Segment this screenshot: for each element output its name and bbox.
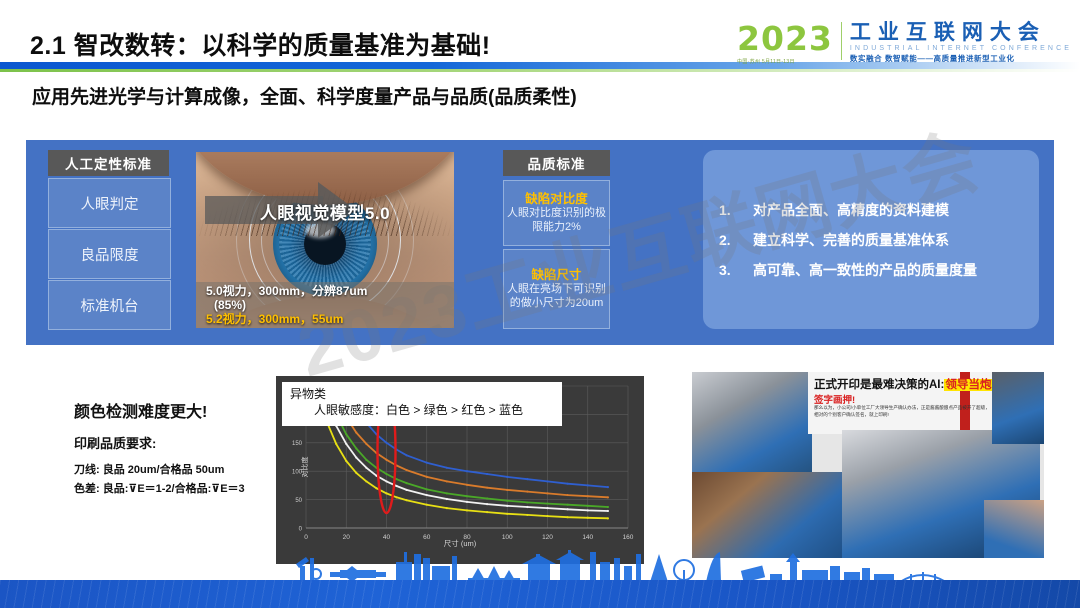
quality-item-contrast-title: 缺陷对比度 (525, 192, 588, 207)
goal-number-2: 2. (719, 225, 753, 255)
photo-subline: 签字画押! (814, 392, 855, 406)
photo-headline: 正式开印是最难决策的AI:领导当炮灰 (814, 376, 998, 392)
manual-standard-item-0[interactable]: 人眼判定 (48, 178, 171, 228)
manual-standard-item-1[interactable]: 良品限度 (48, 229, 171, 279)
factory-photo-collage: 正式开印是最难决策的AI:领导当炮灰 签字画押! 那么以为，小公司/小单位工厂大… (692, 372, 1044, 558)
eye-caption-line-2: (85%) (206, 298, 454, 312)
svg-text:50: 50 (295, 498, 302, 504)
chart-x-axis-label: 尺寸 (um) (276, 538, 644, 549)
photo-headline-red: 领导当炮灰 (944, 379, 998, 391)
list-item: 3. 高可靠、高一致性的产品的质量度量 (719, 255, 1025, 285)
quality-item-contrast-desc: 人眼对比度识别的极限能力2% (506, 207, 607, 234)
eye-caption-line-1: 5.0视力，300mm，分辨87um (206, 284, 454, 298)
manual-standard-item-2[interactable]: 标准机台 (48, 280, 171, 330)
photo-headline-card: 正式开印是最难决策的AI:领导当炮灰 签字画押! 那么以为，小公司/小单位工厂大… (808, 372, 998, 434)
page-title: 2.1 智改数转：以科学的质量基准为基础! (30, 26, 491, 62)
list-item: 2. 建立科学、完善的质量基准体系 (719, 225, 1025, 255)
logo-year-sub: 中国·苏州 5月11日-13日 (737, 58, 833, 65)
logo-cn-name: 工业互联网大会 (850, 22, 1072, 44)
photo-body-text: 那么以为，小公司/小单位工厂大领导生产确认办法，正是酱酱酿酿点产品被开了超级，相… (814, 405, 992, 418)
goal-text-2: 建立科学、完善的质量基准体系 (753, 225, 949, 255)
logo-en-name: INDUSTRIAL INTERNET CONFERENCE (850, 44, 1072, 54)
print-quality-line-1: 刀线: 良品 20um/合格品 50um (74, 461, 224, 477)
chart-legend: 异物类 人眼敏感度：白色 > 绿色 > 红色 > 蓝色 (282, 382, 562, 426)
page-subtitle: 应用先进光学与计算成像，全面、科学度量产品与品质(品质柔性) (32, 82, 577, 109)
color-detection-heading: 颜色检测难度更大! (74, 398, 207, 422)
logo-tagline: 数实融合 数智赋能——高质量推进新型工业化 (850, 54, 1072, 64)
logo-name-block: 工业互联网大会 INDUSTRIAL INTERNET CONFERENCE 数… (850, 22, 1072, 64)
manual-standard-header: 人工定性标准 (48, 150, 169, 176)
quality-item-size-desc: 人眼在亮场下可识别的做小尺寸为20um (506, 283, 607, 310)
quality-standard-header: 品质标准 (503, 150, 610, 176)
photo-press-machine (992, 372, 1044, 444)
quality-item-contrast[interactable]: 缺陷对比度 人眼对比度识别的极限能力2% (503, 180, 610, 246)
photo-worker-desk (692, 472, 844, 558)
goals-list: 1. 对产品全面、高精度的资料建模 2. 建立科学、完善的质量基准体系 3. 高… (703, 150, 1039, 329)
quality-item-size[interactable]: 缺陷尺寸 人眼在亮场下可识别的做小尺寸为20um (503, 249, 610, 329)
goal-text-3: 高可靠、高一致性的产品的质量度量 (753, 255, 977, 285)
eye-model-label: 人眼视觉模型5.0 (196, 196, 454, 226)
eye-caption-line-3: 5.2视力，300mm，55um (206, 312, 454, 327)
chart-legend-sensitivity: 人眼敏感度：白色 > 绿色 > 红色 > 蓝色 (290, 402, 562, 418)
logo-year: 2023 (737, 22, 833, 55)
list-item: 1. 对产品全面、高精度的资料建模 (719, 195, 1025, 225)
photo-headline-black: 正式开印是最难决策的AI: (814, 379, 944, 391)
logo-year-block: 2023 中国·苏州 5月11日-13日 (737, 22, 833, 65)
logo-divider (841, 22, 842, 60)
eye-caption: 5.0视力，300mm，分辨87um (85%) 5.2视力，300mm，55u… (196, 282, 454, 328)
goal-text-1: 对产品全面、高精度的资料建模 (753, 195, 949, 225)
chart-y-axis-label: 对比度 (300, 447, 310, 487)
chart-legend-title: 异物类 (290, 386, 562, 402)
footer-blue-band (0, 580, 1080, 608)
photo-workers-reviewing (692, 372, 812, 474)
goal-number-3: 3. (719, 255, 753, 285)
header-divider-green (0, 69, 1080, 72)
goal-number-1: 1. (719, 195, 753, 225)
print-quality-line-2: 色差: 良品:⊽E＝1-2/合格品:⊽E＝3 (74, 480, 245, 496)
print-quality-subheading: 印刷品质要求: (74, 433, 156, 452)
conference-logo: 2023 中国·苏州 5月11日-13日 工业互联网大会 INDUSTRIAL … (737, 22, 1072, 65)
footer-skyline-graphic (0, 548, 1080, 582)
quality-item-size-title: 缺陷尺寸 (531, 268, 581, 283)
slide-root: 2.1 智改数转：以科学的质量基准为基础! 应用先进光学与计算成像，全面、科学度… (0, 0, 1080, 608)
